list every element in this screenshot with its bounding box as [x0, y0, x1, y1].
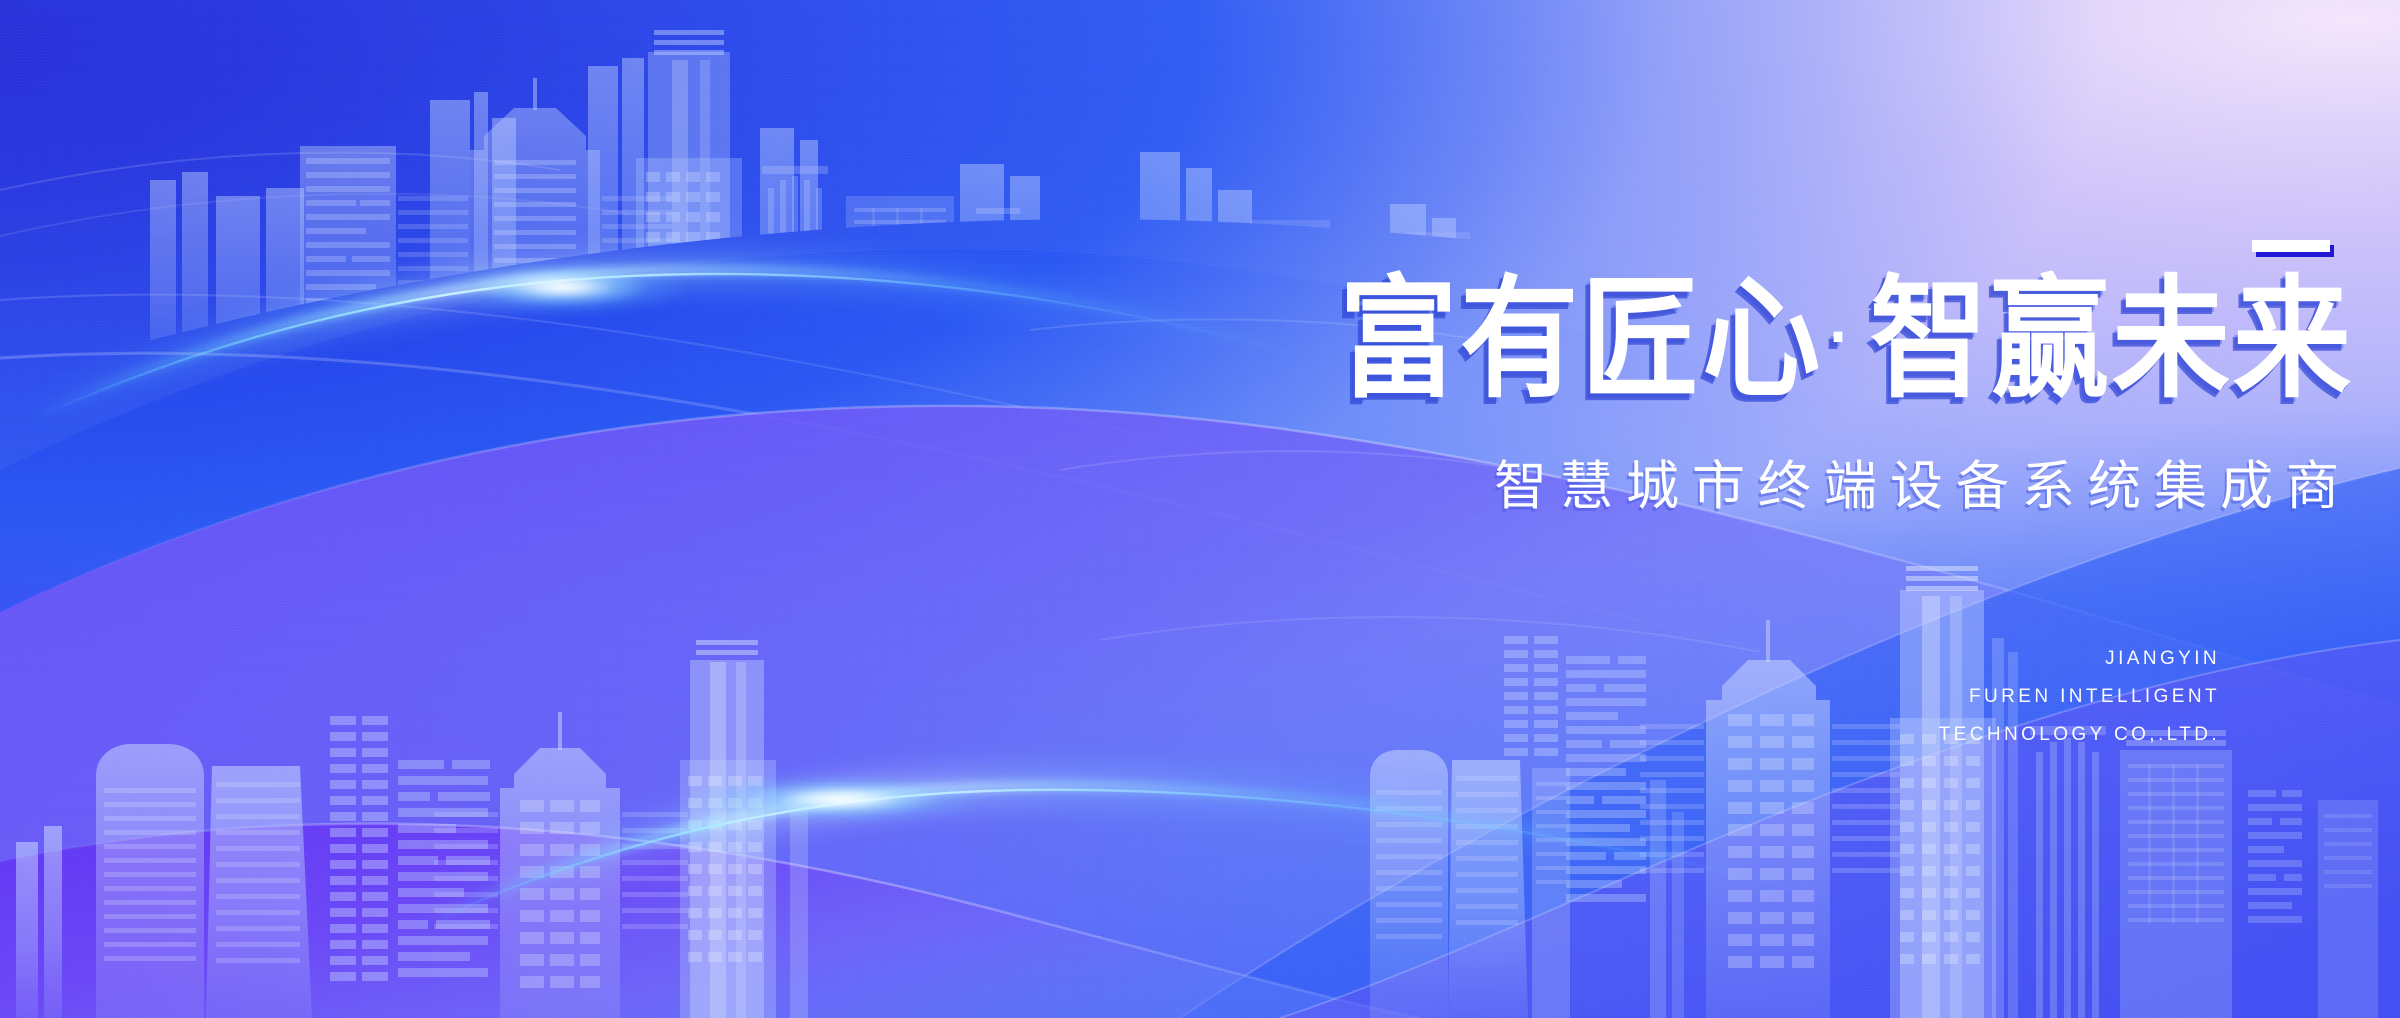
headline-left: 富有匠心: [1339, 266, 1823, 414]
decorative-dash-icon: [2252, 240, 2330, 252]
company-name-block: JIANGYIN FUREN INTELLIGENT TECHNOLOGY CO…: [1780, 640, 2220, 754]
banner-text-block: 富有匠心·智赢未来 智慧城市终端设备系统集成商: [1040, 240, 2370, 520]
promo-banner: 富有匠心·智赢未来 智慧城市终端设备系统集成商 JIANGYIN FUREN I…: [0, 0, 2400, 1018]
company-line-2: FUREN INTELLIGENT: [1780, 678, 2220, 716]
page-subtitle: 智慧城市终端设备系统集成商: [1040, 444, 2370, 520]
company-line-3: TECHNOLOGY CO,.LTD.: [1780, 716, 2220, 754]
page-title: 富有匠心·智赢未来: [1040, 272, 2370, 409]
company-line-1: JIANGYIN: [1780, 640, 2220, 678]
headline-right: 智赢未来: [1870, 266, 2354, 414]
headline-separator-dot: ·: [1823, 299, 1870, 376]
